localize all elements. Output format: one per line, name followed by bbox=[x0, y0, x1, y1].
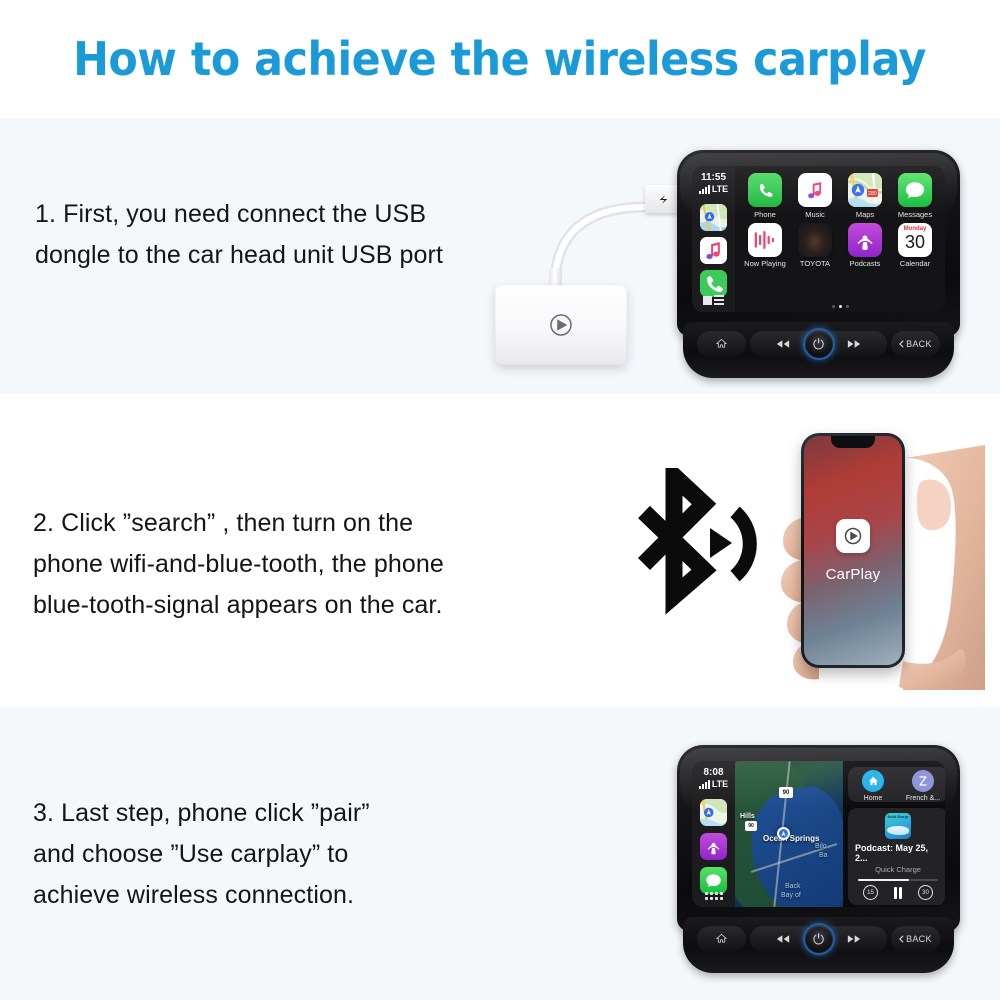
list-view-icon bbox=[703, 295, 724, 305]
carplay-dashboard-screen[interactable]: 8:08 LTE bbox=[692, 761, 945, 907]
app-grid-icon bbox=[705, 892, 723, 900]
calendar-day: 30 bbox=[898, 232, 932, 252]
phone-notch bbox=[831, 436, 875, 448]
carplay-logo-icon bbox=[546, 310, 576, 340]
signal-strength-icon bbox=[699, 185, 710, 194]
app-maps[interactable]: 280 Maps bbox=[842, 173, 888, 219]
album-art-text: Build Charge bbox=[885, 815, 911, 819]
svg-text:280: 280 bbox=[868, 191, 877, 197]
smartphone: CarPlay bbox=[801, 433, 905, 668]
page-dot[interactable] bbox=[832, 305, 835, 308]
suggestion-home[interactable]: Home bbox=[848, 770, 898, 802]
maps-app-icon: 280 bbox=[848, 173, 882, 207]
app-row-1: Phone bbox=[740, 173, 940, 219]
sidebar-maps-icon[interactable] bbox=[700, 204, 727, 231]
map-label-bay-of: Bay of bbox=[781, 892, 801, 899]
track-title: Podcast: May 25, 2... bbox=[855, 843, 941, 863]
head-unit-control-bar: BACK ⏻ bbox=[683, 322, 954, 378]
lightning-bolt-icon bbox=[657, 193, 670, 206]
next-track-icon bbox=[846, 934, 862, 944]
app-toyota[interactable]: TOYOTA bbox=[792, 223, 838, 269]
sidebar-phone-icon[interactable] bbox=[700, 270, 727, 297]
previous-track-icon bbox=[775, 934, 791, 944]
phone-icon bbox=[700, 270, 727, 297]
fork-knife-icon bbox=[917, 775, 929, 787]
music-note-icon bbox=[802, 177, 828, 203]
sidebar-view-toggle[interactable] bbox=[703, 295, 724, 305]
calendar-app-icon: Monday 30 bbox=[898, 223, 932, 257]
section-divider bbox=[0, 394, 1000, 417]
carplay-app-grid: Phone bbox=[735, 166, 945, 312]
home-button[interactable] bbox=[697, 331, 746, 357]
now-playing-app-icon bbox=[748, 223, 782, 257]
status-time: 8:08 bbox=[703, 767, 723, 779]
sidebar-music-icon[interactable] bbox=[700, 237, 727, 264]
step-3-text: 3. Last step, phone click ”pair” and cho… bbox=[33, 793, 513, 916]
carplay-logo-icon bbox=[841, 524, 865, 548]
carplay-app-tile[interactable] bbox=[836, 519, 870, 553]
phone-screen[interactable]: CarPlay bbox=[804, 436, 902, 665]
dashboard-cards: Home French &... bbox=[843, 761, 945, 907]
house-glyph-icon bbox=[867, 775, 879, 787]
power-icon: ⏻ bbox=[813, 932, 824, 946]
podcast-icon bbox=[704, 837, 723, 856]
phone-in-hand: CarPlay bbox=[775, 425, 990, 690]
dongle-body bbox=[495, 285, 627, 365]
back-button-label: BACK bbox=[906, 934, 932, 944]
current-location-pin bbox=[777, 827, 790, 840]
page-dot-active[interactable] bbox=[839, 305, 842, 308]
maps-icon bbox=[700, 799, 727, 826]
power-icon: ⏻ bbox=[813, 337, 824, 351]
power-button[interactable]: ⏻ bbox=[803, 328, 835, 360]
app-music[interactable]: Music bbox=[792, 173, 838, 219]
messages-app-icon bbox=[898, 173, 932, 207]
sidebar-app-grid-button[interactable] bbox=[705, 892, 723, 900]
suggestions-card: Home French &... bbox=[848, 767, 945, 802]
app-phone[interactable]: Phone bbox=[742, 173, 788, 219]
message-bubble-icon bbox=[704, 871, 723, 890]
map-label-ba: Ba bbox=[819, 852, 828, 859]
home-icon bbox=[716, 338, 727, 349]
network-type-label: LTE bbox=[712, 185, 728, 194]
phone-app-icon bbox=[748, 173, 782, 207]
page-dot[interactable] bbox=[846, 305, 849, 308]
bluetooth-icon bbox=[592, 468, 757, 628]
signal-strength-icon bbox=[699, 780, 710, 789]
carplay-sidebar: 8:08 LTE bbox=[692, 761, 735, 907]
app-label: Now Playing bbox=[742, 259, 788, 268]
app-messages[interactable]: Messages bbox=[892, 173, 938, 219]
maps-icon bbox=[700, 204, 727, 231]
carplay-sidebar: 11:55 LTE bbox=[692, 166, 735, 312]
podcast-icon bbox=[853, 228, 877, 252]
page-header: How to achieve the wireless carplay bbox=[0, 0, 1000, 118]
app-label: TOYOTA bbox=[792, 259, 838, 268]
map-label-back: Back bbox=[785, 883, 801, 890]
music-app-icon bbox=[798, 173, 832, 207]
skip-forward-30-button[interactable]: 30 bbox=[918, 885, 933, 900]
head-unit-control-bar: BACK ⏻ bbox=[683, 917, 954, 973]
usb-connector bbox=[645, 185, 681, 213]
playback-controls: 15 30 bbox=[855, 885, 941, 900]
progress-bar[interactable] bbox=[858, 879, 937, 881]
phone-handset-icon bbox=[754, 179, 776, 201]
bluetooth-indicator bbox=[592, 468, 757, 628]
back-chevron-icon bbox=[899, 340, 904, 348]
head-unit-bezel: 8:08 LTE bbox=[677, 745, 960, 931]
network-type-label: LTE bbox=[712, 780, 728, 789]
app-label: Phone bbox=[742, 210, 788, 219]
back-button[interactable]: BACK bbox=[891, 926, 940, 952]
back-chevron-icon bbox=[899, 935, 904, 943]
dashboard-content: 90 90 Hills Ocean Springs Bilo Ba Back B… bbox=[735, 761, 945, 907]
app-now-playing[interactable]: Now Playing bbox=[742, 223, 788, 269]
album-art: Build Charge bbox=[885, 813, 911, 839]
back-button[interactable]: BACK bbox=[891, 331, 940, 357]
back-button-label: BACK bbox=[906, 339, 932, 349]
progress-fill bbox=[858, 879, 909, 881]
navigation-arrow-icon bbox=[780, 830, 787, 837]
map-label-hills: Hills bbox=[740, 813, 755, 820]
car-head-unit-home: 11:55 LTE bbox=[677, 150, 960, 386]
skip-back-15-button[interactable]: 15 bbox=[863, 885, 878, 900]
carplay-home-screen[interactable]: 11:55 LTE bbox=[692, 166, 945, 312]
page-indicator-dots bbox=[735, 305, 945, 308]
sidebar-recent-apps bbox=[700, 799, 727, 894]
next-track-icon bbox=[846, 339, 862, 349]
map-panel[interactable]: 90 90 Hills Ocean Springs Bilo Ba Back B… bbox=[735, 761, 843, 907]
app-label: Podcasts bbox=[842, 259, 888, 268]
home-icon bbox=[862, 770, 884, 792]
now-playing-card: Build Charge Podcast: May 25, 2... Quick… bbox=[848, 808, 945, 905]
app-podcasts[interactable]: Podcasts bbox=[842, 223, 888, 269]
app-row-2: Now Playing TOYOTA bbox=[740, 223, 940, 269]
app-label: Messages bbox=[892, 210, 938, 219]
infographic-page: How to achieve the wireless carplay 1. F… bbox=[0, 0, 1000, 1000]
map-label-ocean-springs: Ocean Springs bbox=[763, 834, 819, 843]
sidebar-maps-icon[interactable] bbox=[700, 799, 727, 826]
audio-waveform-icon bbox=[753, 229, 777, 251]
app-label: Calendar bbox=[892, 259, 938, 268]
carplay-app-label: CarPlay bbox=[826, 566, 881, 583]
route-shield: 90 bbox=[779, 787, 793, 798]
step-1-text: 1. First, you need connect the USB dongl… bbox=[35, 194, 575, 276]
previous-track-icon bbox=[775, 339, 791, 349]
message-bubble-icon bbox=[903, 178, 927, 202]
power-button[interactable]: ⏻ bbox=[803, 923, 835, 955]
route-shield-2: 90 bbox=[745, 821, 757, 831]
music-icon bbox=[700, 237, 727, 264]
car-head-unit-dashboard: 8:08 LTE bbox=[677, 745, 960, 981]
album-art-wave bbox=[887, 826, 909, 835]
toyota-app-icon bbox=[798, 223, 832, 257]
step-2-text: 2. Click ”search” , then turn on the pho… bbox=[33, 503, 593, 626]
page-title: How to achieve the wireless carplay bbox=[74, 36, 927, 82]
sidebar-podcasts-icon[interactable] bbox=[700, 833, 727, 860]
suggestion-label: Home bbox=[848, 795, 898, 802]
app-label: Maps bbox=[842, 210, 888, 219]
sidebar-recent-apps bbox=[700, 204, 727, 297]
app-calendar[interactable]: Monday 30 Calendar bbox=[892, 223, 938, 269]
head-unit-bezel: 11:55 LTE bbox=[677, 150, 960, 336]
destination-icon bbox=[912, 770, 934, 792]
map-label-bilo: Bilo bbox=[815, 843, 827, 850]
usb-dongle bbox=[495, 185, 700, 380]
home-button[interactable] bbox=[697, 926, 746, 952]
maps-icon: 280 bbox=[848, 173, 882, 207]
sidebar-messages-icon[interactable] bbox=[700, 867, 727, 894]
pause-button[interactable] bbox=[894, 887, 902, 899]
status-time: 11:55 bbox=[701, 172, 726, 184]
home-icon bbox=[716, 933, 727, 944]
suggestion-label: French &... bbox=[898, 795, 945, 802]
track-subtitle: Quick Charge bbox=[875, 865, 921, 874]
suggestion-destination[interactable]: French &... bbox=[898, 770, 945, 802]
podcasts-app-icon bbox=[848, 223, 882, 257]
app-label: Music bbox=[792, 210, 838, 219]
